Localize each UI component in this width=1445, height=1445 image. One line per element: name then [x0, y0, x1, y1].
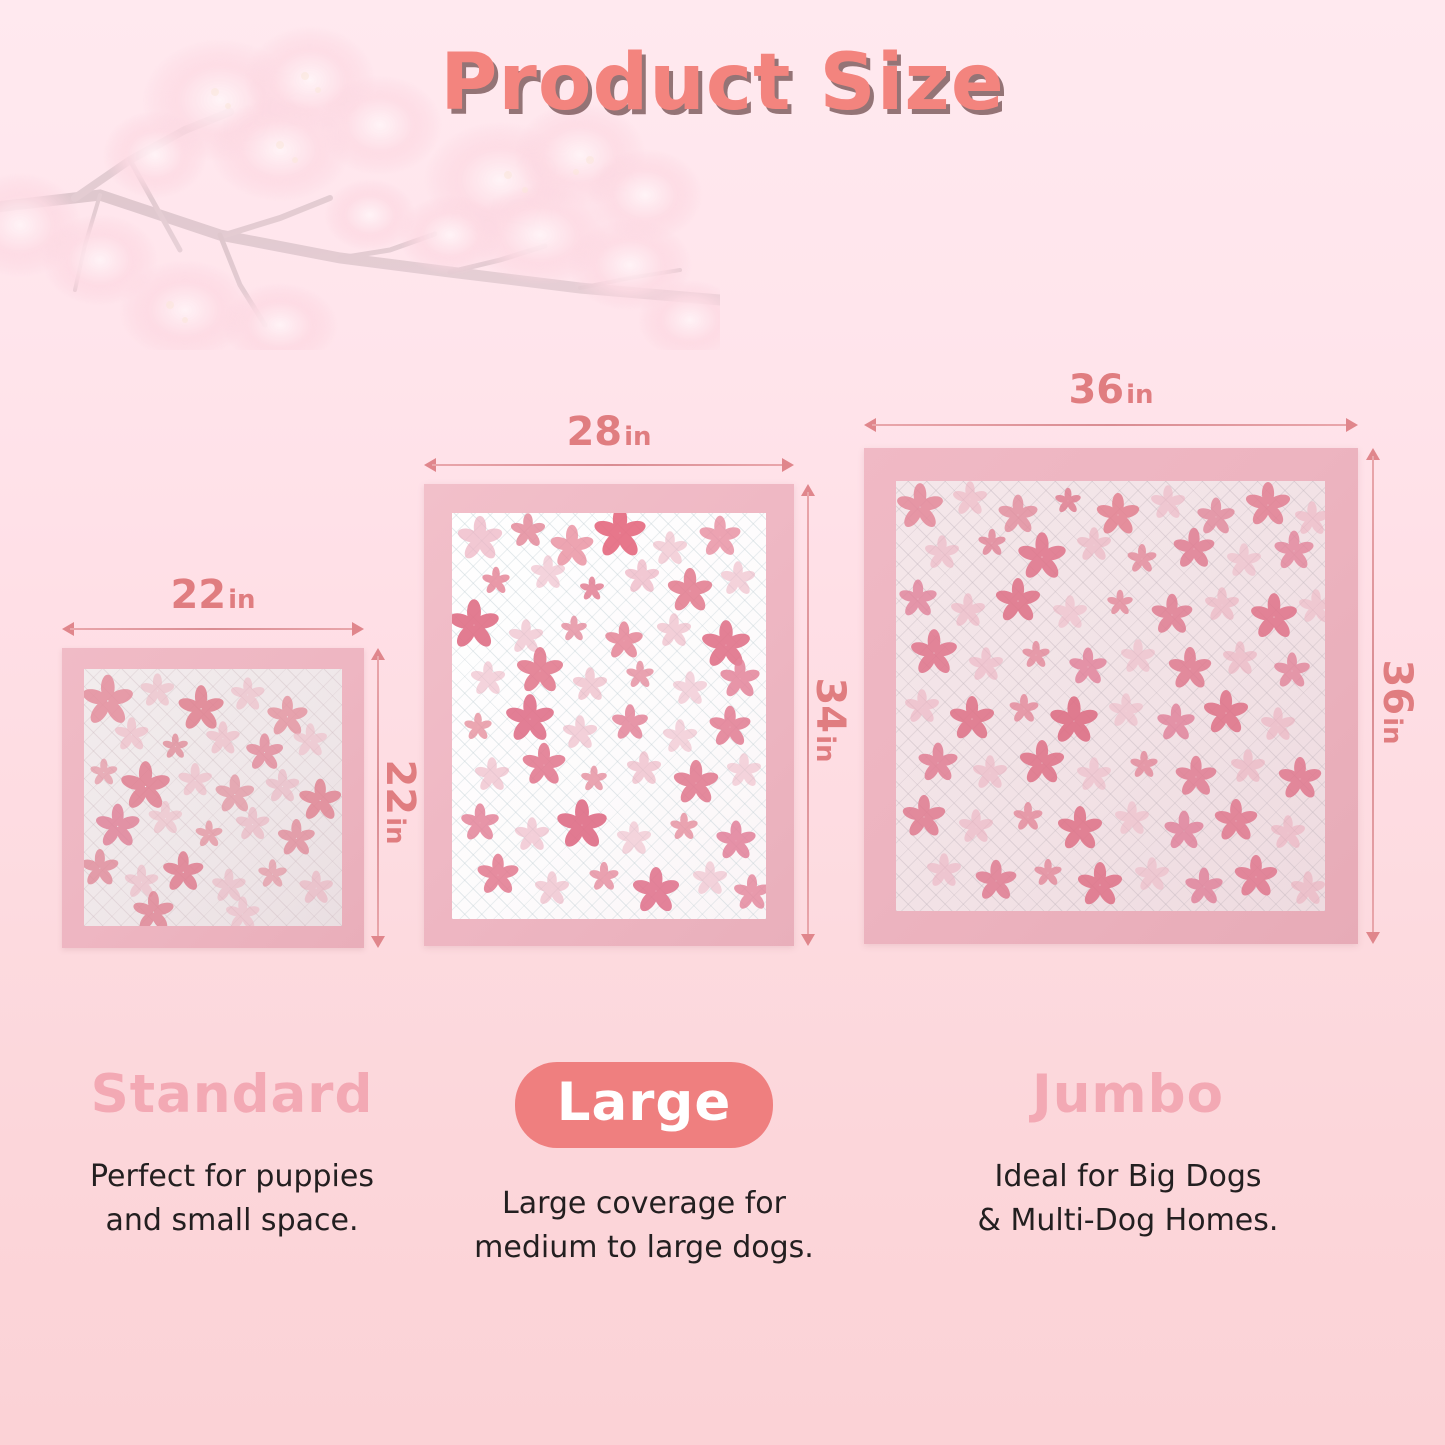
heading-standard: Standard [32, 1068, 432, 1121]
description-large: Large coverage for medium to large dogs. [444, 1182, 844, 1269]
product-column-jumbo: Jumbo Ideal for Big Dogs & Multi-Dog Hom… [928, 1068, 1328, 1242]
sakura-pattern-icon [896, 481, 1325, 911]
standard-height-label: 22in [380, 757, 420, 847]
pad-large-surface [452, 513, 766, 919]
standard-width-unit: in [228, 585, 255, 615]
standard-width-arrow [62, 622, 364, 636]
pad-standard-surface [84, 669, 342, 926]
large-width-label: 28in [424, 412, 794, 452]
pad-standard [62, 648, 364, 948]
page-title: Product Size [0, 38, 1445, 128]
description-standard: Perfect for puppies and small space. [32, 1155, 432, 1242]
arrow-line [432, 464, 786, 466]
pad-jumbo [864, 448, 1358, 944]
sakura-pattern-icon [84, 669, 342, 926]
description-jumbo: Ideal for Big Dogs & Multi-Dog Homes. [928, 1155, 1328, 1242]
jumbo-height-unit: in [1377, 717, 1407, 744]
standard-width-value: 22 [170, 572, 226, 618]
arrow-line [872, 424, 1350, 426]
heading-jumbo: Jumbo [928, 1068, 1328, 1121]
arrow-head-right-icon [1346, 418, 1358, 432]
jumbo-width-arrow [864, 418, 1358, 432]
jumbo-height-label: 36in [1377, 657, 1417, 747]
heading-large: Large [515, 1062, 774, 1148]
standard-width-label: 22in [62, 575, 364, 615]
standard-height-unit: in [380, 817, 410, 844]
standard-height-value: 22 [377, 759, 423, 815]
large-height-label: 34in [810, 675, 850, 765]
large-height-unit: in [810, 735, 840, 762]
product-column-large: Large Large coverage for medium to large… [444, 1062, 844, 1269]
jumbo-height-value: 36 [1374, 659, 1420, 715]
pad-jumbo-surface [896, 481, 1325, 911]
sakura-pattern-icon [452, 513, 766, 919]
jumbo-width-value: 36 [1068, 367, 1124, 413]
jumbo-width-unit: in [1126, 380, 1153, 410]
large-width-arrow [424, 458, 794, 472]
large-width-value: 28 [566, 409, 622, 455]
arrow-head-down-icon [371, 936, 385, 948]
large-height-value: 34 [807, 677, 853, 733]
pad-large [424, 484, 794, 946]
arrow-head-down-icon [1366, 932, 1380, 944]
arrow-line [70, 628, 356, 630]
large-width-unit: in [624, 422, 651, 452]
jumbo-width-label: 36in [864, 370, 1358, 410]
product-size-infographic: Product Size [0, 0, 1445, 1445]
arrow-head-right-icon [782, 458, 794, 472]
arrow-head-right-icon [352, 622, 364, 636]
arrow-head-down-icon [801, 934, 815, 946]
product-column-standard: Standard Perfect for puppies and small s… [32, 1068, 432, 1242]
